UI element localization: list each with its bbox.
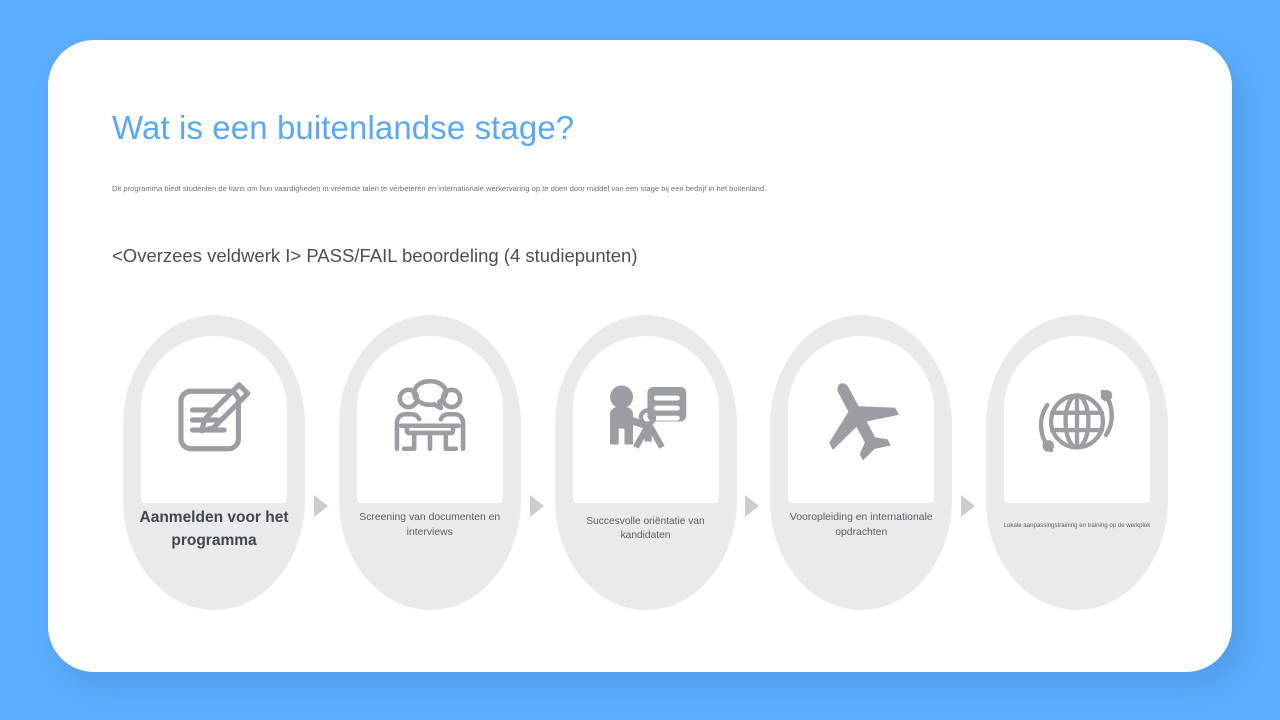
step-label-4: Vooropleiding en internationale opdracht… [778,511,944,540]
step-label-3: Succesvolle oriëntatie van kandidaten [563,515,729,543]
step-card-4[interactable]: Vooropleiding en internationale opdracht… [770,315,952,610]
step-icon-panel-1 [141,336,287,503]
slide-subtitle: Dit programma biedt studenten de kans om… [112,183,1172,195]
process-steps: Aanmelden voor het programma [123,315,1168,615]
airplane-icon [815,374,907,466]
step-card-1[interactable]: Aanmelden voor het programma [123,315,305,610]
step-icon-panel-5 [1004,336,1150,503]
chevron-right-icon [961,495,975,517]
step-card-3[interactable]: Succesvolle oriëntatie van kandidaten [555,315,737,610]
document-edit-icon [168,374,260,466]
chevron-right-icon [745,495,759,517]
slide-root: Wat is een buitenlandse stage? Dit progr… [0,0,1280,720]
step-card-2[interactable]: Screening van documenten en interviews [339,315,521,610]
step-arrow-1 [309,315,335,610]
chevron-right-icon [314,495,328,517]
interview-meeting-icon [384,374,476,466]
step-arrow-3 [740,315,766,610]
chevron-right-icon [530,495,544,517]
step-card-5[interactable]: Lokale aanpassingstraining en training o… [986,315,1168,610]
globe-network-icon [1031,374,1123,466]
page-title: Wat is een buitenlandse stage? [112,108,574,148]
step-arrow-4 [956,315,982,610]
step-icon-panel-3 [573,336,719,503]
step-icon-panel-4 [788,336,934,503]
step-icon-panel-2 [357,336,503,503]
step-label-1: Aanmelden voor het programma [131,506,297,552]
content-card: Wat is een buitenlandse stage? Dit progr… [48,40,1232,672]
presenter-whiteboard-icon [600,374,692,466]
step-label-2: Screening van documenten en interviews [347,511,513,540]
step-arrow-2 [525,315,551,610]
assessment-line: <Overzees veldwerk I> PASS/FAIL beoordel… [112,243,638,269]
step-label-5: Lokale aanpassingstraining en training o… [994,521,1160,530]
